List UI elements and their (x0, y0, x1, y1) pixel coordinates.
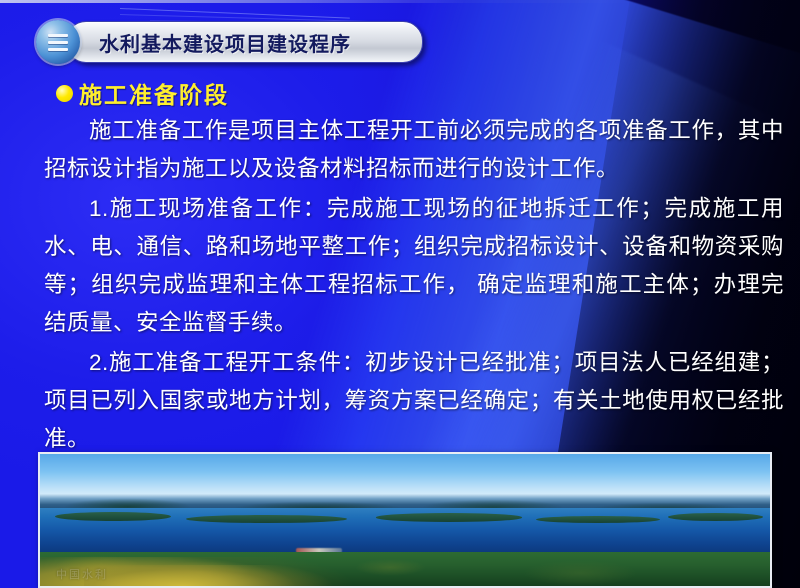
hamburger-bar-3 (48, 48, 68, 51)
section-heading: 施工准备阶段 (56, 76, 229, 110)
bullet-dot-icon (56, 85, 73, 102)
photo-watermark: 中国水利 (56, 566, 108, 582)
hamburger-bar-1 (48, 34, 68, 37)
body-paragraph-1: 施工准备工作是项目主体工程开工前必须完成的各项准备工作，其中招标设计指为施工以及… (44, 112, 784, 188)
photo-autumn-foliage (84, 565, 332, 586)
slide-title-bar: 水利基本建设项目建设程序 (36, 20, 423, 64)
hamburger-bar-2 (48, 41, 68, 44)
slide-photo: 中国水利 (38, 452, 772, 588)
photo-sky (40, 454, 770, 498)
title-pill: 水利基本建设项目建设程序 (66, 21, 423, 63)
photo-island (376, 513, 522, 522)
body-paragraph-3: 2.施工准备工程开工条件：初步设计已经批准；项目法人已经组建；项目已列入国家或地… (44, 344, 784, 458)
hamburger-bars-icon (36, 20, 80, 64)
presentation-slide: 水利基本建设项目建设程序 施工准备阶段 施工准备工作是项目主体工程开工前必须完成… (0, 0, 800, 588)
photo-island (186, 515, 347, 523)
section-heading-label: 施工准备阶段 (79, 76, 229, 110)
body-paragraph-2: 1.施工现场准备工作：完成施工现场的征地拆迁工作；完成施工用水、电、通信、路和场… (44, 190, 784, 342)
page-title: 水利基本建设项目建设程序 (99, 28, 351, 57)
slide-top-edge (0, 0, 800, 3)
photo-landscape-reservoir (40, 454, 770, 586)
slide-body-text: 施工准备工作是项目主体工程开工前必须完成的各项准备工作，其中招标设计指为施工以及… (44, 112, 784, 460)
